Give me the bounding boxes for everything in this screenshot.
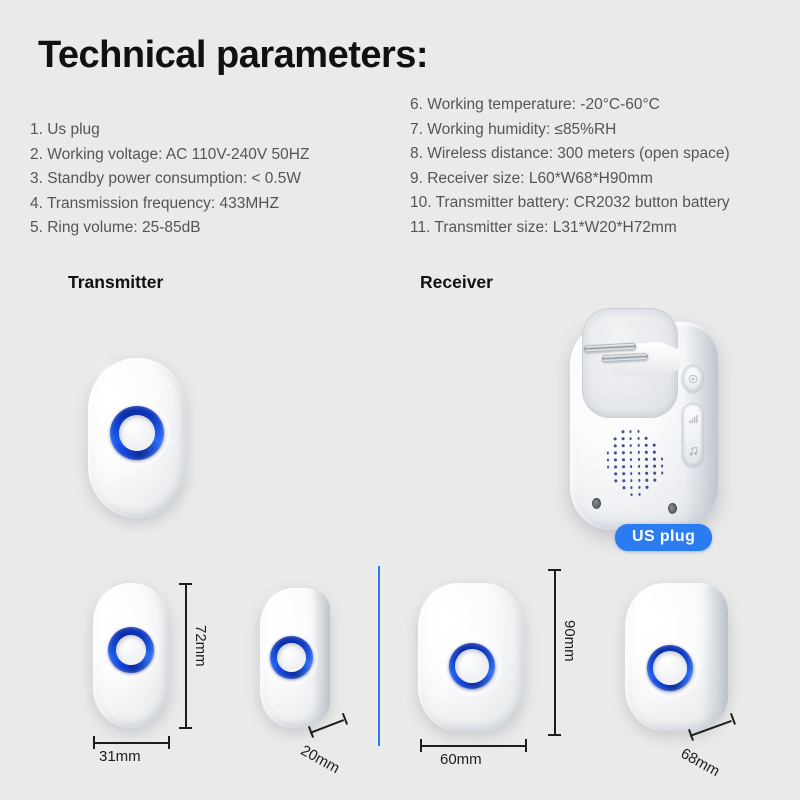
led-core: [119, 415, 155, 451]
spec-item: 10. Transmitter battery: CR2032 button b…: [410, 191, 730, 216]
dimension-cap: [548, 734, 561, 736]
transmitter-led-button: [110, 406, 164, 460]
dimension-line: [93, 742, 169, 744]
spec-item: 2. Working voltage: AC 110V-240V 50HZ: [30, 143, 309, 168]
volume-melody-button[interactable]: [682, 403, 703, 466]
receiver-led-button: [647, 645, 693, 691]
volume-icon: [688, 414, 699, 425]
dimension-line: [185, 583, 187, 728]
spec-item: 5. Ring volume: 25-85dB: [30, 216, 309, 241]
page-title: Technical parameters:: [38, 34, 428, 77]
us-plug-badge: US plug: [615, 524, 712, 551]
led-core: [116, 635, 146, 665]
led-core: [455, 649, 489, 683]
dimension-label: 20mm: [298, 742, 343, 777]
receiver-led-button: [449, 643, 495, 689]
transmitter-hero-image: [88, 358, 186, 518]
music-note-icon: [688, 446, 699, 457]
dimension-line: [554, 569, 556, 735]
section-divider: [378, 566, 380, 746]
dimension-line: [420, 745, 526, 747]
transmitter-front-view: [93, 583, 169, 728]
transmitter-side-view: [260, 588, 330, 728]
receiver-front-view: [418, 583, 524, 731]
spec-item: 4. Transmission frequency: 433MHZ: [30, 192, 309, 217]
receiver-hero-image: [570, 300, 718, 530]
dimension-label: 68mm: [678, 745, 723, 780]
dimension-label: 31mm: [99, 748, 141, 765]
dimension-cap: [420, 739, 422, 752]
spec-item: 8. Wireless distance: 300 meters (open s…: [410, 142, 730, 167]
dimension-cap: [548, 569, 561, 571]
spec-item: 6. Working temperature: -20°C-60°C: [410, 93, 730, 118]
dimension-cap: [179, 727, 192, 729]
led-core: [277, 643, 306, 672]
transmitter-led-button: [108, 627, 154, 673]
transmitter-led-button: [270, 636, 313, 679]
dimension-cap: [93, 736, 95, 749]
spec-list-left: 1. Us plug 2. Working voltage: AC 110V-2…: [30, 118, 309, 241]
receiver-hole: [668, 503, 677, 514]
power-button[interactable]: [682, 365, 703, 392]
bell-icon: [688, 374, 698, 384]
speaker-grille: [603, 427, 666, 496]
section-heading-transmitter: Transmitter: [68, 272, 163, 293]
dimension-label: 90mm: [561, 620, 578, 662]
spec-item: 1. Us plug: [30, 118, 309, 143]
dimension-cap: [168, 736, 170, 749]
spec-list-right: 6. Working temperature: -20°C-60°C 7. Wo…: [410, 93, 730, 241]
product-spec-page: Technical parameters: 1. Us plug 2. Work…: [0, 0, 800, 800]
receiver-hole: [592, 498, 601, 509]
spec-item: 3. Standby power consumption: < 0.5W: [30, 167, 309, 192]
section-heading-receiver: Receiver: [420, 272, 493, 293]
dimension-cap: [179, 583, 192, 585]
dimension-label: 60mm: [440, 751, 482, 768]
dimension-label: 72mm: [192, 625, 209, 667]
spec-item: 11. Transmitter size: L31*W20*H72mm: [410, 216, 730, 241]
spec-item: 7. Working humidity: ≤85%RH: [410, 118, 730, 143]
led-core: [653, 651, 687, 685]
spec-item: 9. Receiver size: L60*W68*H90mm: [410, 167, 730, 192]
receiver-side-view: [625, 583, 728, 731]
dimension-cap: [525, 739, 527, 752]
